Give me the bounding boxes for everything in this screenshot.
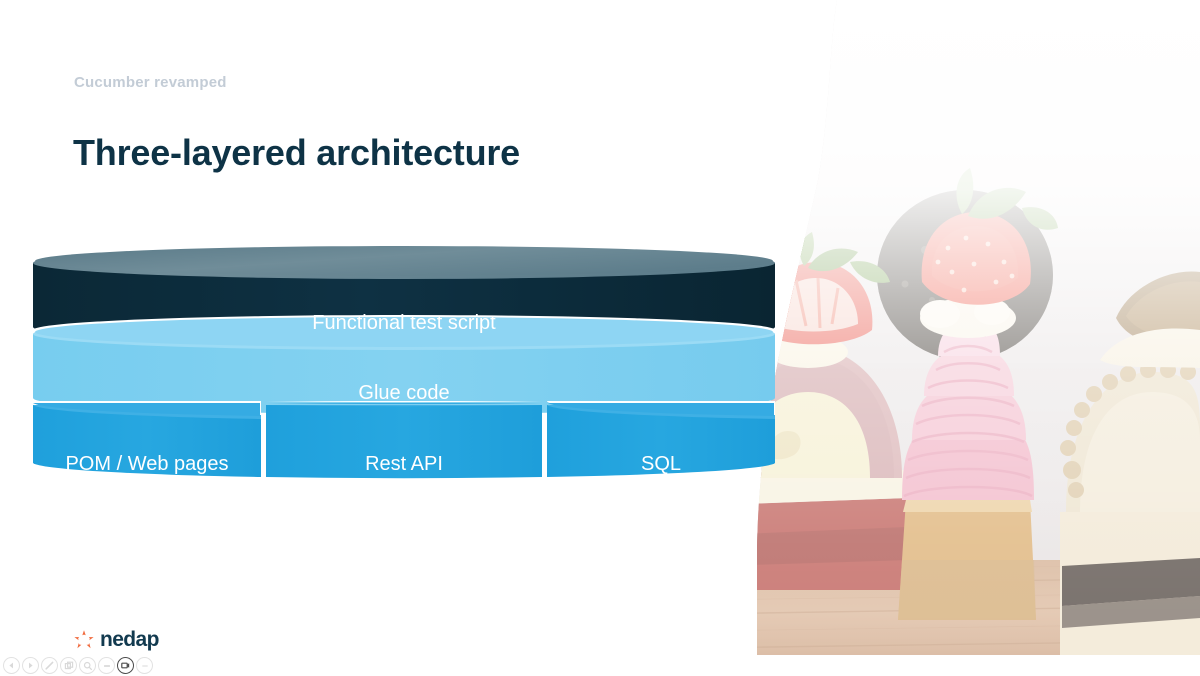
diagram-label-pom-web-pages: POM / Web pages xyxy=(33,453,261,476)
notes-button[interactable] xyxy=(98,657,115,674)
slide-canvas: Cucumber revamped Three-layered architec… xyxy=(0,0,1200,676)
previous-slide-button[interactable] xyxy=(3,657,20,674)
page-title: Three-layered architecture xyxy=(73,130,520,175)
diagram-label-rest-api: Rest API xyxy=(283,453,525,476)
present-mode-button[interactable] xyxy=(117,657,134,674)
slide-grid-button[interactable] xyxy=(60,657,77,674)
next-slide-button[interactable] xyxy=(22,657,39,674)
three-layered-architecture-diagram: Functional test script Glue code POM / W… xyxy=(20,230,800,500)
screen-icon xyxy=(120,660,131,671)
magnifier-icon xyxy=(83,661,93,671)
slide-eyebrow: Cucumber revamped xyxy=(74,74,227,92)
nedap-logo: nedap xyxy=(73,629,159,650)
diagram-label-functional-test-script: Functional test script xyxy=(33,312,775,335)
nedap-wordmark: nedap xyxy=(100,629,159,650)
more-options-button[interactable] xyxy=(136,657,153,674)
triangle-left-icon xyxy=(7,661,16,670)
nedap-star-icon xyxy=(73,629,95,650)
triangle-right-icon xyxy=(26,661,35,670)
diagram-label-glue-code: Glue code xyxy=(33,382,775,405)
dash-icon xyxy=(140,661,150,671)
zoom-button[interactable] xyxy=(79,657,96,674)
presentation-toolbar[interactable] xyxy=(0,655,1200,676)
pen-icon xyxy=(44,660,55,671)
grid-icon xyxy=(64,661,74,671)
annotate-button[interactable] xyxy=(41,657,58,674)
diagram-label-sql: SQL xyxy=(547,453,775,476)
minus-bar-icon xyxy=(102,661,112,671)
